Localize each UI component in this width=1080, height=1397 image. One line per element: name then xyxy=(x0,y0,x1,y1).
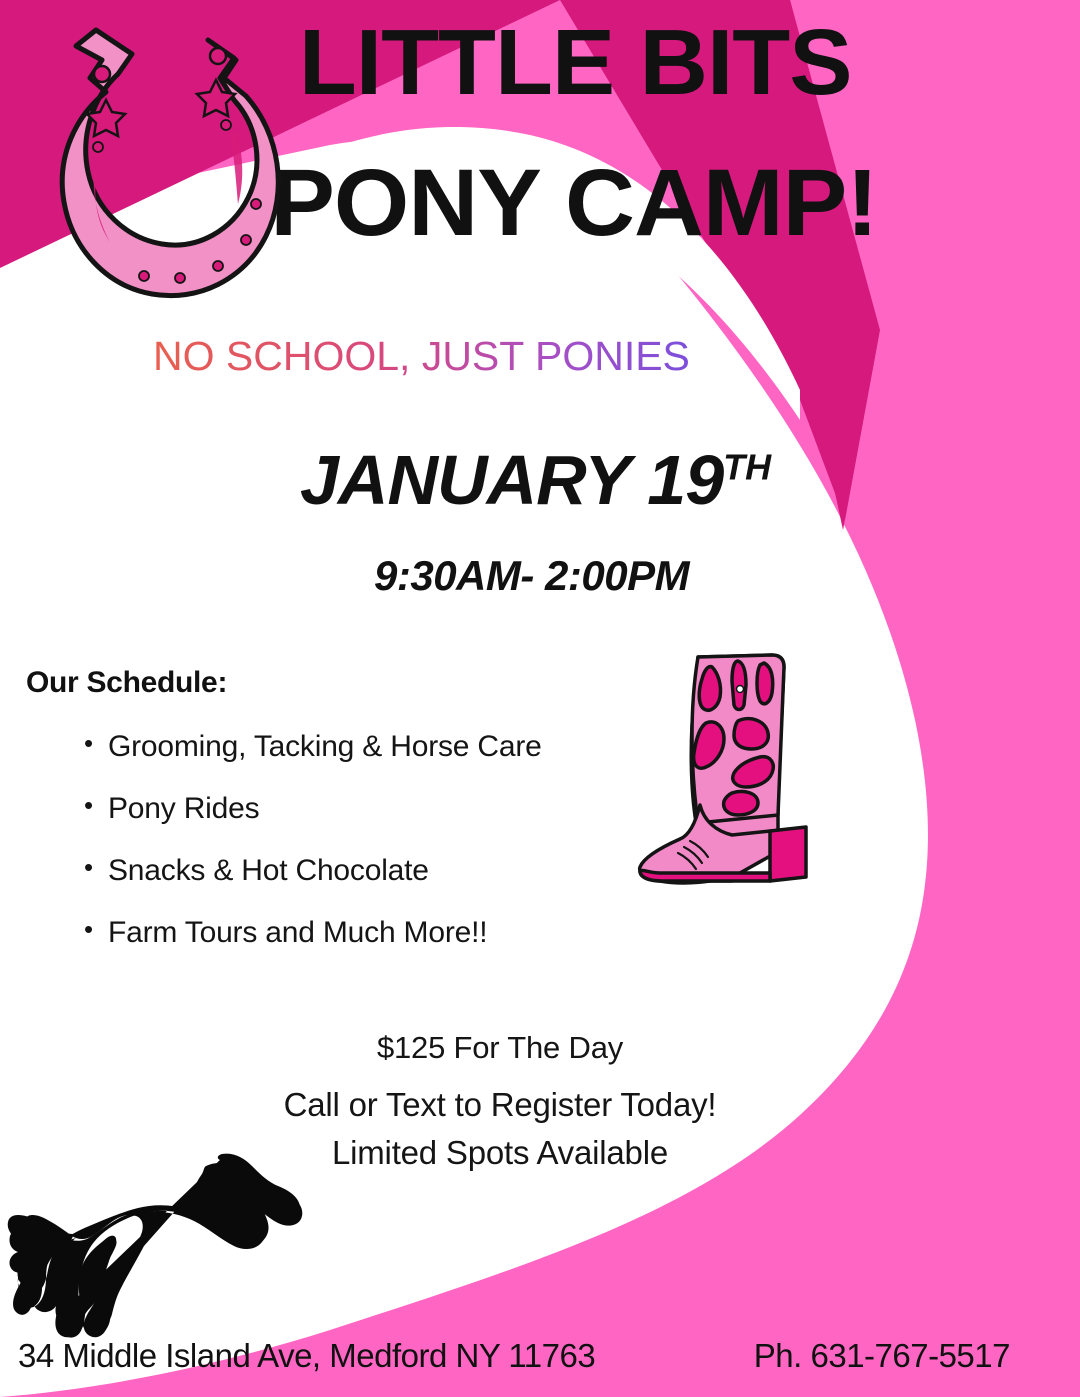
list-item: Snacks & Hot Chocolate xyxy=(26,854,626,888)
tagline: NO SCHOOL, JUST PONIES xyxy=(153,333,690,380)
event-date-text: JANUARY 19 xyxy=(300,441,723,519)
horseshoe-icon xyxy=(40,22,290,307)
schedule-heading: Our Schedule: xyxy=(26,666,626,700)
flyer-canvas: LITTLE BITS PONY CAMP! NO SCHOOL, JUST P… xyxy=(0,0,1080,1397)
list-item: Pony Rides xyxy=(26,792,626,826)
event-time: 9:30AM- 2:00PM xyxy=(0,552,1080,600)
price-text: $125 For The Day xyxy=(0,1030,1000,1066)
footer-address: 34 Middle Island Ave, Medford NY 11763 xyxy=(18,1337,595,1375)
galloping-horse-icon xyxy=(6,1148,306,1348)
schedule-section: Our Schedule: Grooming, Tacking & Horse … xyxy=(26,666,626,978)
event-date: JANUARY 19TH xyxy=(0,440,1080,520)
footer-phone: Ph. 631-767-5517 xyxy=(754,1337,1010,1375)
list-item: Grooming, Tacking & Horse Care xyxy=(26,730,626,764)
schedule-list: Grooming, Tacking & Horse Care Pony Ride… xyxy=(26,730,626,950)
list-item: Farm Tours and Much More!! xyxy=(26,916,626,950)
event-date-suffix: TH xyxy=(723,447,771,488)
cta-register-text: Call or Text to Register Today! xyxy=(0,1086,1000,1124)
cowboy-boot-icon xyxy=(620,645,825,890)
